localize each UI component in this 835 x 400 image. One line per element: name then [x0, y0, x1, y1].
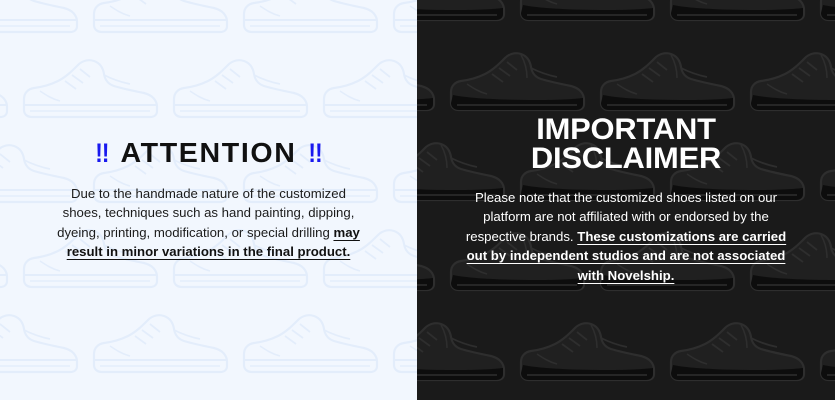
- attention-body: Due to the handmade nature of the custom…: [54, 184, 364, 262]
- attention-panel: !!ATTENTION!! Due to the handmade nature…: [0, 0, 417, 400]
- disclaimer-heading: IMPORTANT DISCLAIMER: [435, 115, 816, 174]
- bang-left-icon: !!: [95, 139, 108, 167]
- disclaimer-panel: IMPORTANT DISCLAIMER Please note that th…: [417, 0, 835, 400]
- attention-content: !!ATTENTION!! Due to the handmade nature…: [0, 138, 417, 261]
- attention-body-normal: Due to the handmade nature of the custom…: [57, 186, 354, 240]
- bang-right-icon: !!: [308, 139, 321, 167]
- attention-title: ATTENTION: [121, 137, 297, 168]
- disclaimer-body: Please note that the customized shoes li…: [461, 188, 791, 286]
- disclaimer-content: IMPORTANT DISCLAIMER Please note that th…: [417, 115, 835, 285]
- disclaimer-heading-line-2: DISCLAIMER: [435, 144, 816, 173]
- attention-heading: !!ATTENTION!!: [24, 138, 392, 167]
- disclaimer-banner: !!ATTENTION!! Due to the handmade nature…: [0, 0, 835, 400]
- disclaimer-heading-line-1: IMPORTANT: [435, 115, 816, 144]
